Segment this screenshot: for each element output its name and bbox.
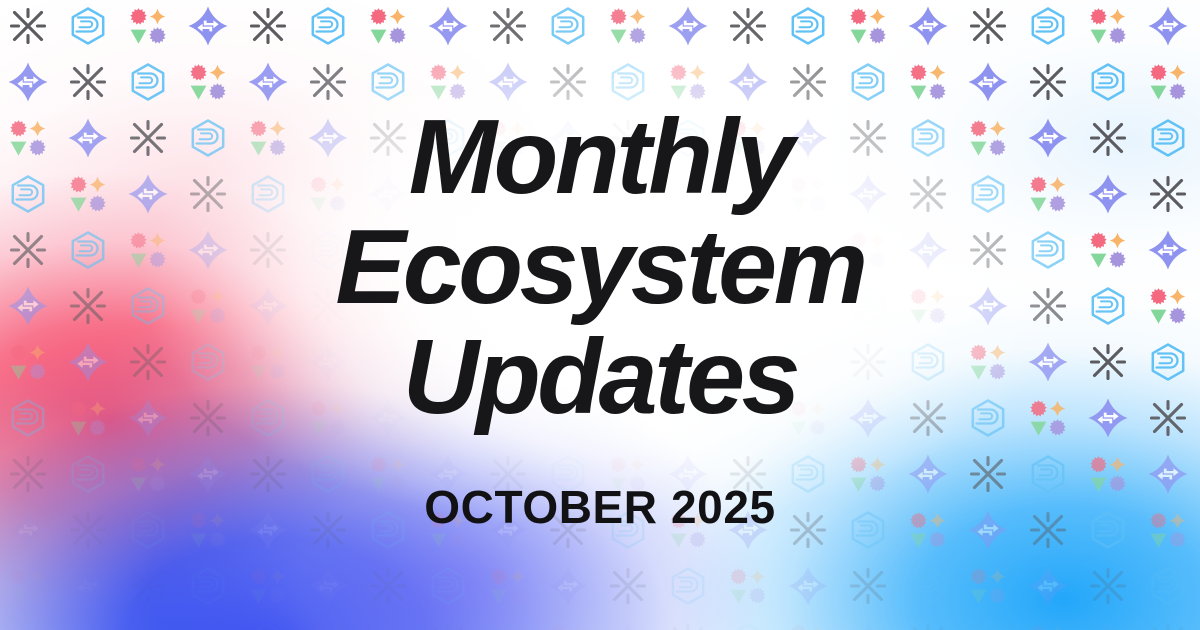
banner-canvas: Monthly Ecosystem Updates OCTOBER 2025 — [0, 0, 1200, 630]
title-line-updates: Updates — [0, 326, 1200, 430]
title-line-monthly: Monthly — [0, 106, 1200, 210]
banner-subtitle-date: OCTOBER 2025 — [0, 480, 1200, 534]
banner-content: Monthly Ecosystem Updates OCTOBER 2025 — [0, 0, 1200, 630]
title-line-ecosystem: Ecosystem — [0, 216, 1200, 320]
